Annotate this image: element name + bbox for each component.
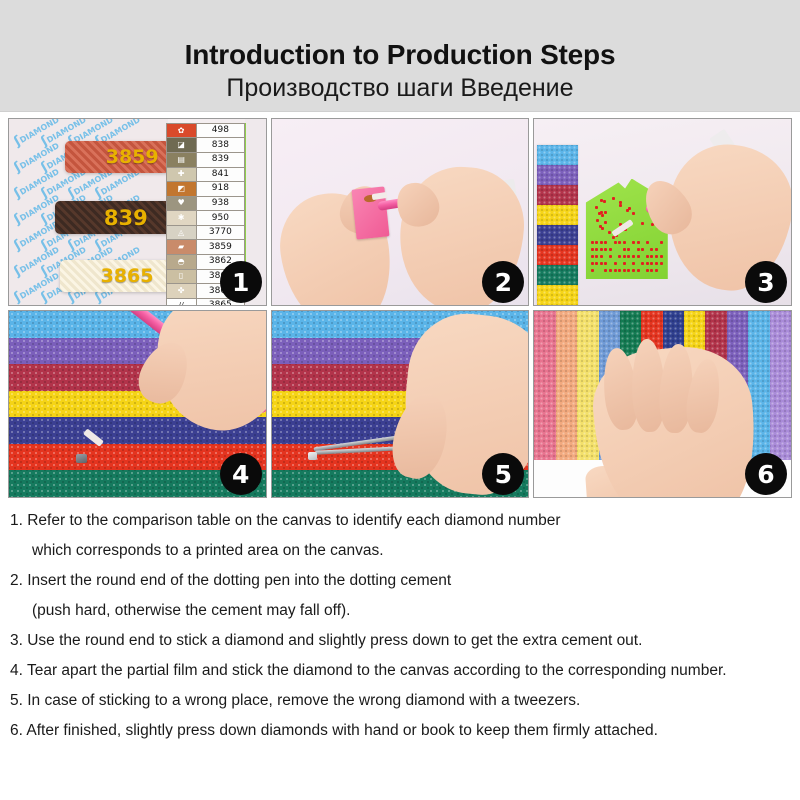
bead-texture [770,311,791,460]
bead-texture [537,165,578,185]
tray-diamond [623,241,626,244]
tray-diamond [646,269,649,272]
tray-diamond [650,248,653,251]
page-title-english: Introduction to Production Steps [0,40,800,70]
tray-diamond [632,262,635,265]
instruction-line: 5. In case of sticking to a wrong place,… [0,686,800,716]
tray-diamond [619,204,622,207]
strip-band [537,185,578,205]
instruction-line: which corresponds to a printed area on t… [0,536,800,566]
step-panel-3: 3 [533,118,792,306]
tray-diamond [591,255,594,258]
tray-diamond [600,241,603,244]
tray-diamond [604,241,607,244]
strip-band [537,285,578,305]
step-badge-3: 3 [745,261,787,303]
tray-diamond [650,262,653,265]
chart-row: ▤839 [167,153,245,168]
wrong-diamond-bead [308,452,317,460]
chart-symbol: ✱ [167,211,197,225]
tray-diamond [660,241,663,244]
tray-diamond [623,255,626,258]
header-banner: Introduction to Production Steps Произво… [0,0,800,112]
step-badge-6: 6 [745,453,787,495]
chart-number: 3770 [197,226,244,240]
step-panel-1: ʃDIAMONDʃDIAMONDʃDIAMONDʃDIAMONDʃDIAMOND… [8,118,267,306]
chart-row: ▰3859 [167,240,245,255]
instruction-line: 6. After finished, slightly press down d… [0,716,800,746]
canvas-stripe [577,311,598,460]
step-panel-2: 2 [271,118,530,306]
tray-diamond [604,211,607,214]
chart-symbol: ▤ [167,153,197,167]
step-photo-grid: ʃDIAMONDʃDIAMONDʃDIAMONDʃDIAMONDʃDIAMOND… [8,118,792,498]
tray-diamond [637,269,640,272]
tray-diamond [604,269,607,272]
tray-diamond [612,197,615,200]
page-title-russian: Производство шаги Введение [0,74,800,102]
chart-symbol: ▯ [167,270,197,284]
tray-diamond [641,222,644,225]
instruction-line: 3. Use the round end to stick a diamond … [0,626,800,656]
instruction-line: 1. Refer to the comparison table on the … [0,506,800,536]
tray-diamond [660,255,663,258]
bead-texture [537,285,578,305]
chart-symbol: ✤ [167,284,197,298]
tray-diamond [655,262,658,265]
chart-row: ✚841 [167,168,245,183]
bead-texture [537,225,578,245]
panel3-canvas-strip [537,145,578,305]
step-badge-4: 4 [220,453,262,495]
tray-diamond [637,241,640,244]
tray-diamond [600,262,603,265]
tray-diamond [627,269,630,272]
tray-diamond [641,248,644,251]
chart-row: ◪838 [167,138,245,153]
tray-diamond [632,241,635,244]
step-badge-1: 1 [220,261,262,303]
strip-band [537,165,578,185]
chart-symbol: // [167,299,197,306]
tray-diamond [632,255,635,258]
tray-diamond [623,269,626,272]
step-panel-5: 5 [271,310,530,498]
tray-diamond [655,248,658,251]
bead-texture [537,245,578,265]
chart-symbol: ✚ [167,168,197,182]
tray-diamond [660,262,663,265]
tray-diamond [628,207,631,210]
canvas-stripe [770,311,791,460]
chart-number: 839 [197,153,244,167]
tray-diamond [595,206,598,209]
tray-diamond [646,255,649,258]
tray-diamond [655,255,658,258]
tray-diamond [614,262,617,265]
chart-row: ◬3770 [167,226,245,241]
tray-diamond [646,262,649,265]
chart-number: 950 [197,211,244,225]
tray-diamond [646,241,649,244]
chart-row: ◩918 [167,182,245,197]
strip-band [537,205,578,225]
chart-symbol: ◩ [167,182,197,196]
strip-band [537,145,578,165]
tray-diamond [601,214,604,217]
bead-texture [577,311,598,460]
strip-band [537,265,578,285]
tray-diamond [591,269,594,272]
chart-symbol: ◓ [167,255,197,269]
tray-diamond [627,248,630,251]
tray-diamond [650,255,653,258]
instruction-poster: Introduction to Production Steps Произво… [0,0,800,800]
instruction-line: 2. Insert the round end of the dotting p… [0,566,800,596]
tray-diamond [604,221,607,224]
chart-symbol: ▰ [167,240,197,254]
bead-texture [556,311,577,460]
tray-diamond [623,248,626,251]
tray-diamond [595,255,598,258]
tray-diamond [618,255,621,258]
tray-diamond [641,262,644,265]
chart-number: 841 [197,168,244,182]
tray-diamond [591,262,594,265]
strip-band [537,245,578,265]
instruction-line: 4. Tear apart the partial film and stick… [0,656,800,686]
tray-diamond [595,241,598,244]
bead-texture [537,185,578,205]
canvas-stripe [534,311,555,460]
chart-number: 918 [197,182,244,196]
instruction-line: (push hard, otherwise the cement may fal… [0,596,800,626]
chart-symbol: ◬ [167,226,197,240]
tray-diamond [637,248,640,251]
chart-row: ♥938 [167,197,245,212]
tray-diamond [619,201,622,204]
chart-number: 938 [197,197,244,211]
tray-diamond [614,241,617,244]
tray-diamond [609,248,612,251]
tray-diamond [614,269,617,272]
tray-diamond [595,248,598,251]
tray-diamond [618,241,621,244]
tray-diamond [600,199,603,202]
tray-diamond [604,262,607,265]
step-panel-6: 6 [533,310,792,498]
chart-number: 838 [197,138,244,152]
chart-symbol: ♥ [167,197,197,211]
chart-symbol: ◪ [167,138,197,152]
tray-diamond [655,269,658,272]
chart-number: 3859 [197,240,244,254]
bead-texture [534,311,555,460]
bead-texture [537,145,578,165]
chart-row: ✿498 [167,124,245,139]
tray-diamond [627,255,630,258]
tray-diamond [603,200,606,203]
step-panel-4: 4 [8,310,267,498]
tray-diamond [623,262,626,265]
tray-diamond [637,255,640,258]
bead-texture [537,265,578,285]
chart-row: ✱950 [167,211,245,226]
tray-diamond [591,241,594,244]
tray-diamond [632,212,635,215]
tray-diamond [595,262,598,265]
tray-diamond [600,255,603,258]
instruction-list: 1. Refer to the comparison table on the … [0,506,800,746]
tray-diamond [596,219,599,222]
chart-symbol: ✿ [167,124,197,138]
bead-texture [537,205,578,225]
tray-diamond [600,248,603,251]
tray-diamond [632,269,635,272]
diamond-bead-4 [76,454,87,463]
tray-diamond [591,248,594,251]
tray-diamond [650,269,653,272]
strip-band [537,225,578,245]
canvas-stripe [556,311,577,460]
tray-diamond [618,269,621,272]
tray-diamond [599,225,602,228]
tray-diamond [609,269,612,272]
chart-number: 498 [197,124,244,138]
tray-diamond [609,255,612,258]
tray-diamond [604,248,607,251]
